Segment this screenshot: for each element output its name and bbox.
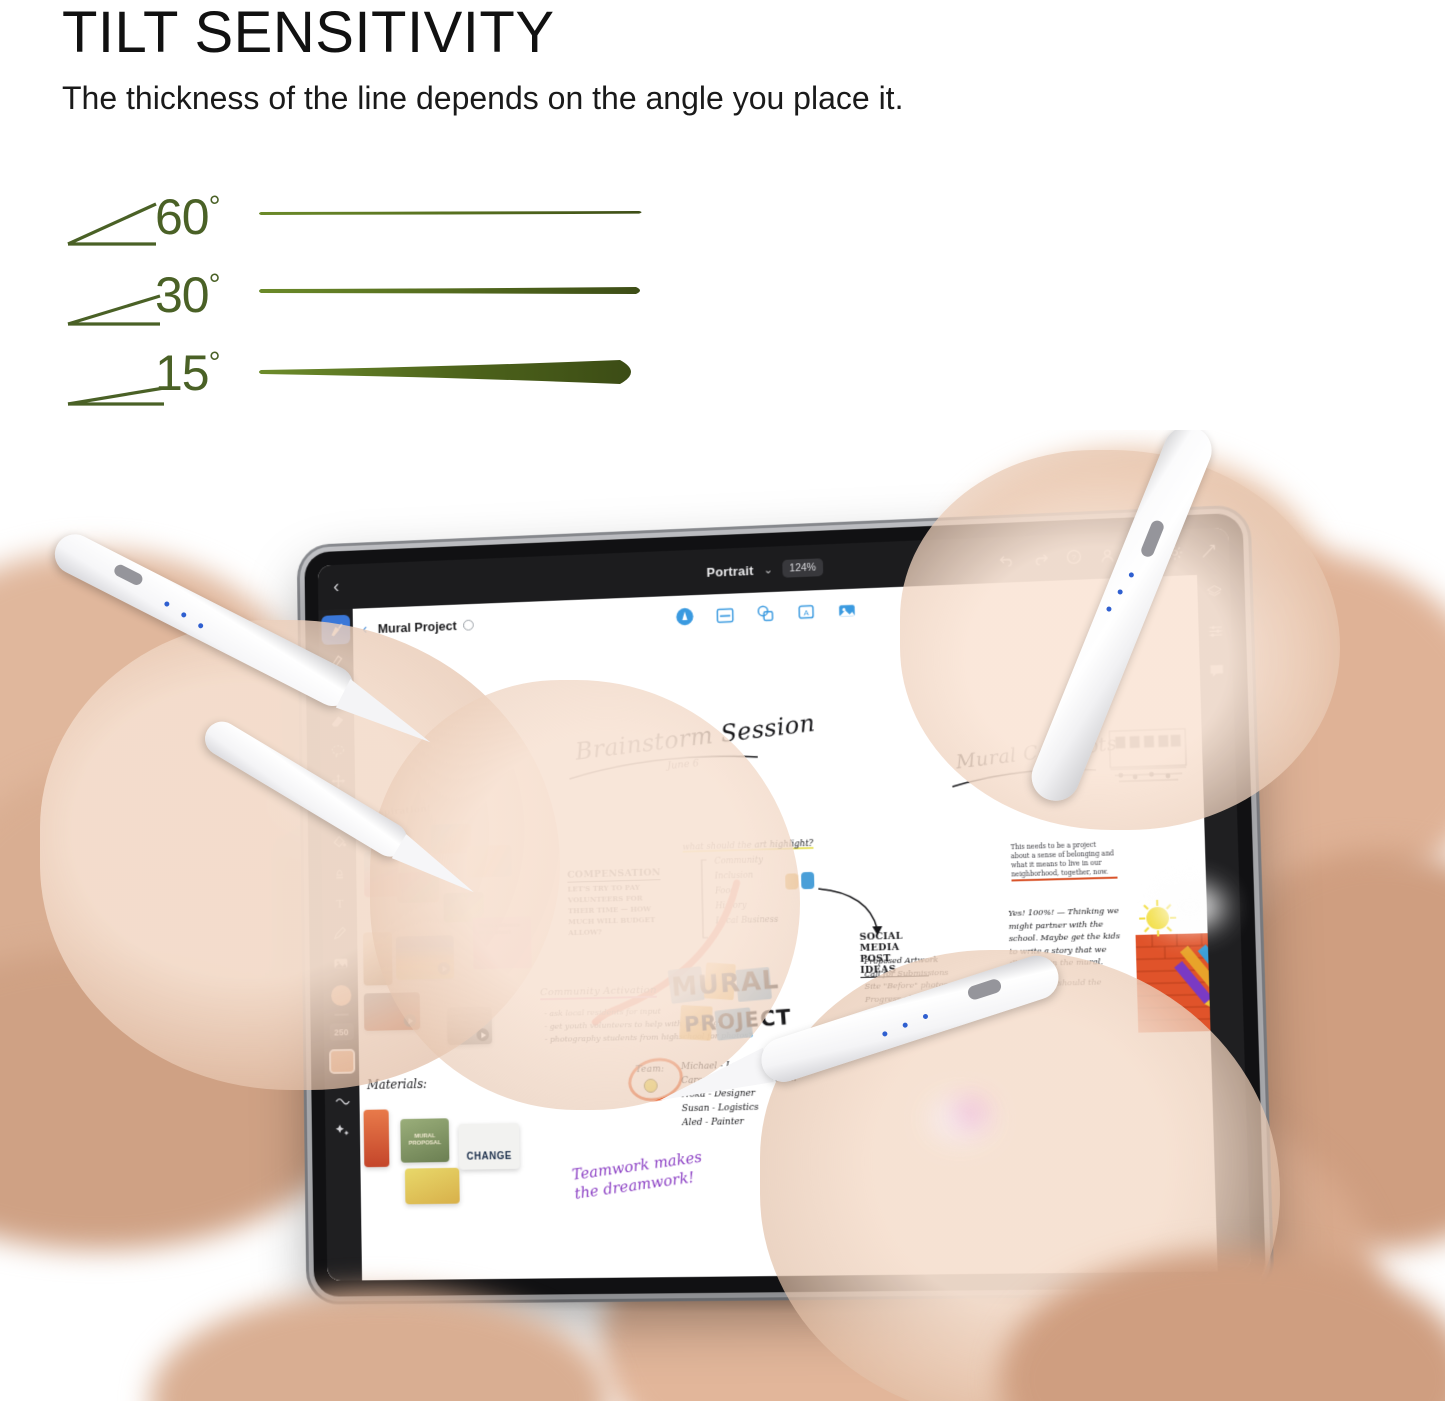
board-thumb[interactable] — [405, 1168, 460, 1205]
board-thumb[interactable] — [364, 1109, 390, 1167]
change-card[interactable]: CHANGE — [459, 1123, 520, 1170]
orientation-control[interactable]: Portrait ⌄ 124% — [706, 558, 823, 581]
product-photo-composite: ‹ Portrait ⌄ 124% ? — [0, 430, 1445, 1401]
tilt-angle-demo: 60° 30° 15° — [60, 192, 620, 426]
proposal-card[interactable]: MURAL PROPOSAL — [400, 1118, 449, 1162]
finger-highlight-right — [1155, 885, 1225, 929]
topbar-back-icon[interactable]: ‹ — [333, 576, 339, 598]
stylus-tip — [390, 832, 490, 911]
tool-effects[interactable] — [328, 1115, 357, 1145]
brush-icon[interactable] — [675, 606, 694, 625]
project-name[interactable]: Mural Project — [378, 618, 457, 636]
zoom-level-badge[interactable]: 124% — [782, 558, 823, 577]
angle-30-stroke — [258, 278, 646, 304]
angle-60-label: 60° — [155, 188, 220, 246]
angle-30-label: 30° — [155, 266, 220, 324]
orientation-label[interactable]: Portrait — [706, 563, 753, 580]
stylus-tip — [333, 677, 449, 763]
smudge-icon — [334, 1091, 351, 1108]
page-subtitle: The thickness of the line depends on the… — [62, 78, 903, 118]
angle-60-stroke — [258, 200, 646, 226]
angle-row-30: 30° — [60, 270, 620, 336]
svg-text:A: A — [804, 608, 810, 617]
effects-icon — [334, 1121, 351, 1138]
page-title: TILT SENSITIVITY — [62, 2, 903, 64]
text-icon[interactable]: A — [797, 602, 816, 622]
concepts-note: This needs to be a project about a sense… — [1011, 840, 1118, 881]
sync-dot-icon — [463, 619, 474, 630]
shapes-icon[interactable] — [756, 603, 775, 623]
proposal-card-label: MURAL PROPOSAL — [401, 1133, 450, 1148]
sticky-note-icon[interactable] — [716, 605, 735, 624]
finger-highlight-pink — [958, 1102, 984, 1124]
header-block: TILT SENSITIVITY The thickness of the li… — [62, 2, 903, 118]
angle-15-stroke — [258, 356, 646, 392]
angle-15-label: 15° — [155, 344, 220, 402]
angle-row-15: 15° — [60, 348, 620, 414]
angle-row-60: 60° — [60, 192, 620, 258]
image-icon[interactable] — [837, 600, 856, 620]
canvas-tool-icons: A — [675, 600, 856, 626]
chevron-down-icon[interactable]: ⌄ — [763, 563, 772, 576]
change-card-label: CHANGE — [467, 1151, 512, 1163]
